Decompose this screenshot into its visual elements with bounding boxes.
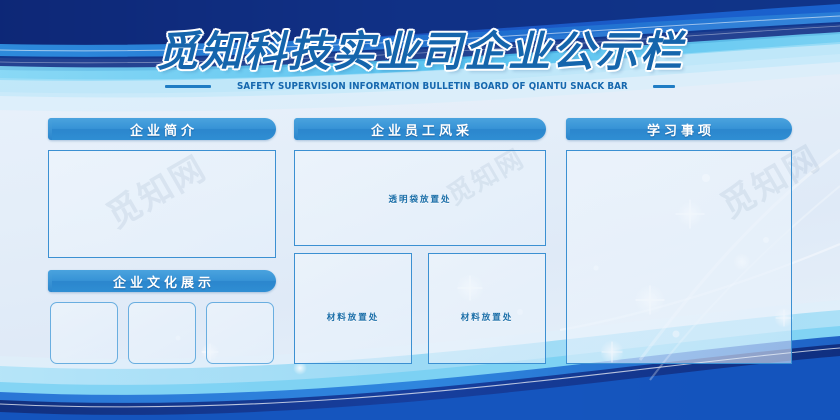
panel-company-intro-body[interactable]: 觅知网 [48, 150, 276, 258]
section-title-label: 企业文化展示 [109, 272, 215, 291]
bulletin-board: 觅知科技实业司企业公示栏 SAFETY SUPERVISION INFORMAT… [0, 0, 840, 420]
page-title: 觅知科技实业司企业公示栏 [0, 28, 840, 75]
section-title-label: 学习事项 [643, 120, 715, 139]
subtitle-dash-right [653, 85, 675, 88]
panel-transparent-bag-area[interactable]: 觅知网 透明袋放置处 [294, 150, 546, 246]
section-title-label: 企业员工风采 [367, 120, 473, 139]
section-header-company-intro: 企业简介 [48, 118, 276, 140]
panel-material-area-right[interactable]: 材料放置处 [428, 253, 546, 364]
panel-study-items-body[interactable]: 觅知网 [566, 150, 792, 364]
subtitle-dash-left [165, 85, 211, 88]
page-subtitle: SAFETY SUPERVISION INFORMATION BULLETIN … [237, 81, 628, 92]
section-header-employee-style: 企业员工风采 [294, 118, 546, 140]
panel-material-area-left[interactable]: 材料放置处 [294, 253, 412, 364]
board-header: 觅知科技实业司企业公示栏 SAFETY SUPERVISION INFORMAT… [0, 28, 840, 92]
section-header-study-items: 学习事项 [566, 118, 792, 140]
panel-label-material-right: 材料放置处 [429, 311, 545, 323]
panel-culture-box-3[interactable] [206, 302, 274, 364]
section-header-culture-display: 企业文化展示 [48, 270, 276, 292]
panel-label-material-left: 材料放置处 [295, 311, 411, 323]
watermark: 觅知网 [96, 141, 214, 237]
panel-culture-box-2[interactable] [128, 302, 196, 364]
panel-label-transparent-bag: 透明袋放置处 [295, 193, 545, 205]
section-title-label: 企业简介 [126, 120, 198, 139]
subtitle-row: SAFETY SUPERVISION INFORMATION BULLETIN … [0, 81, 840, 92]
panel-culture-box-1[interactable] [50, 302, 118, 364]
